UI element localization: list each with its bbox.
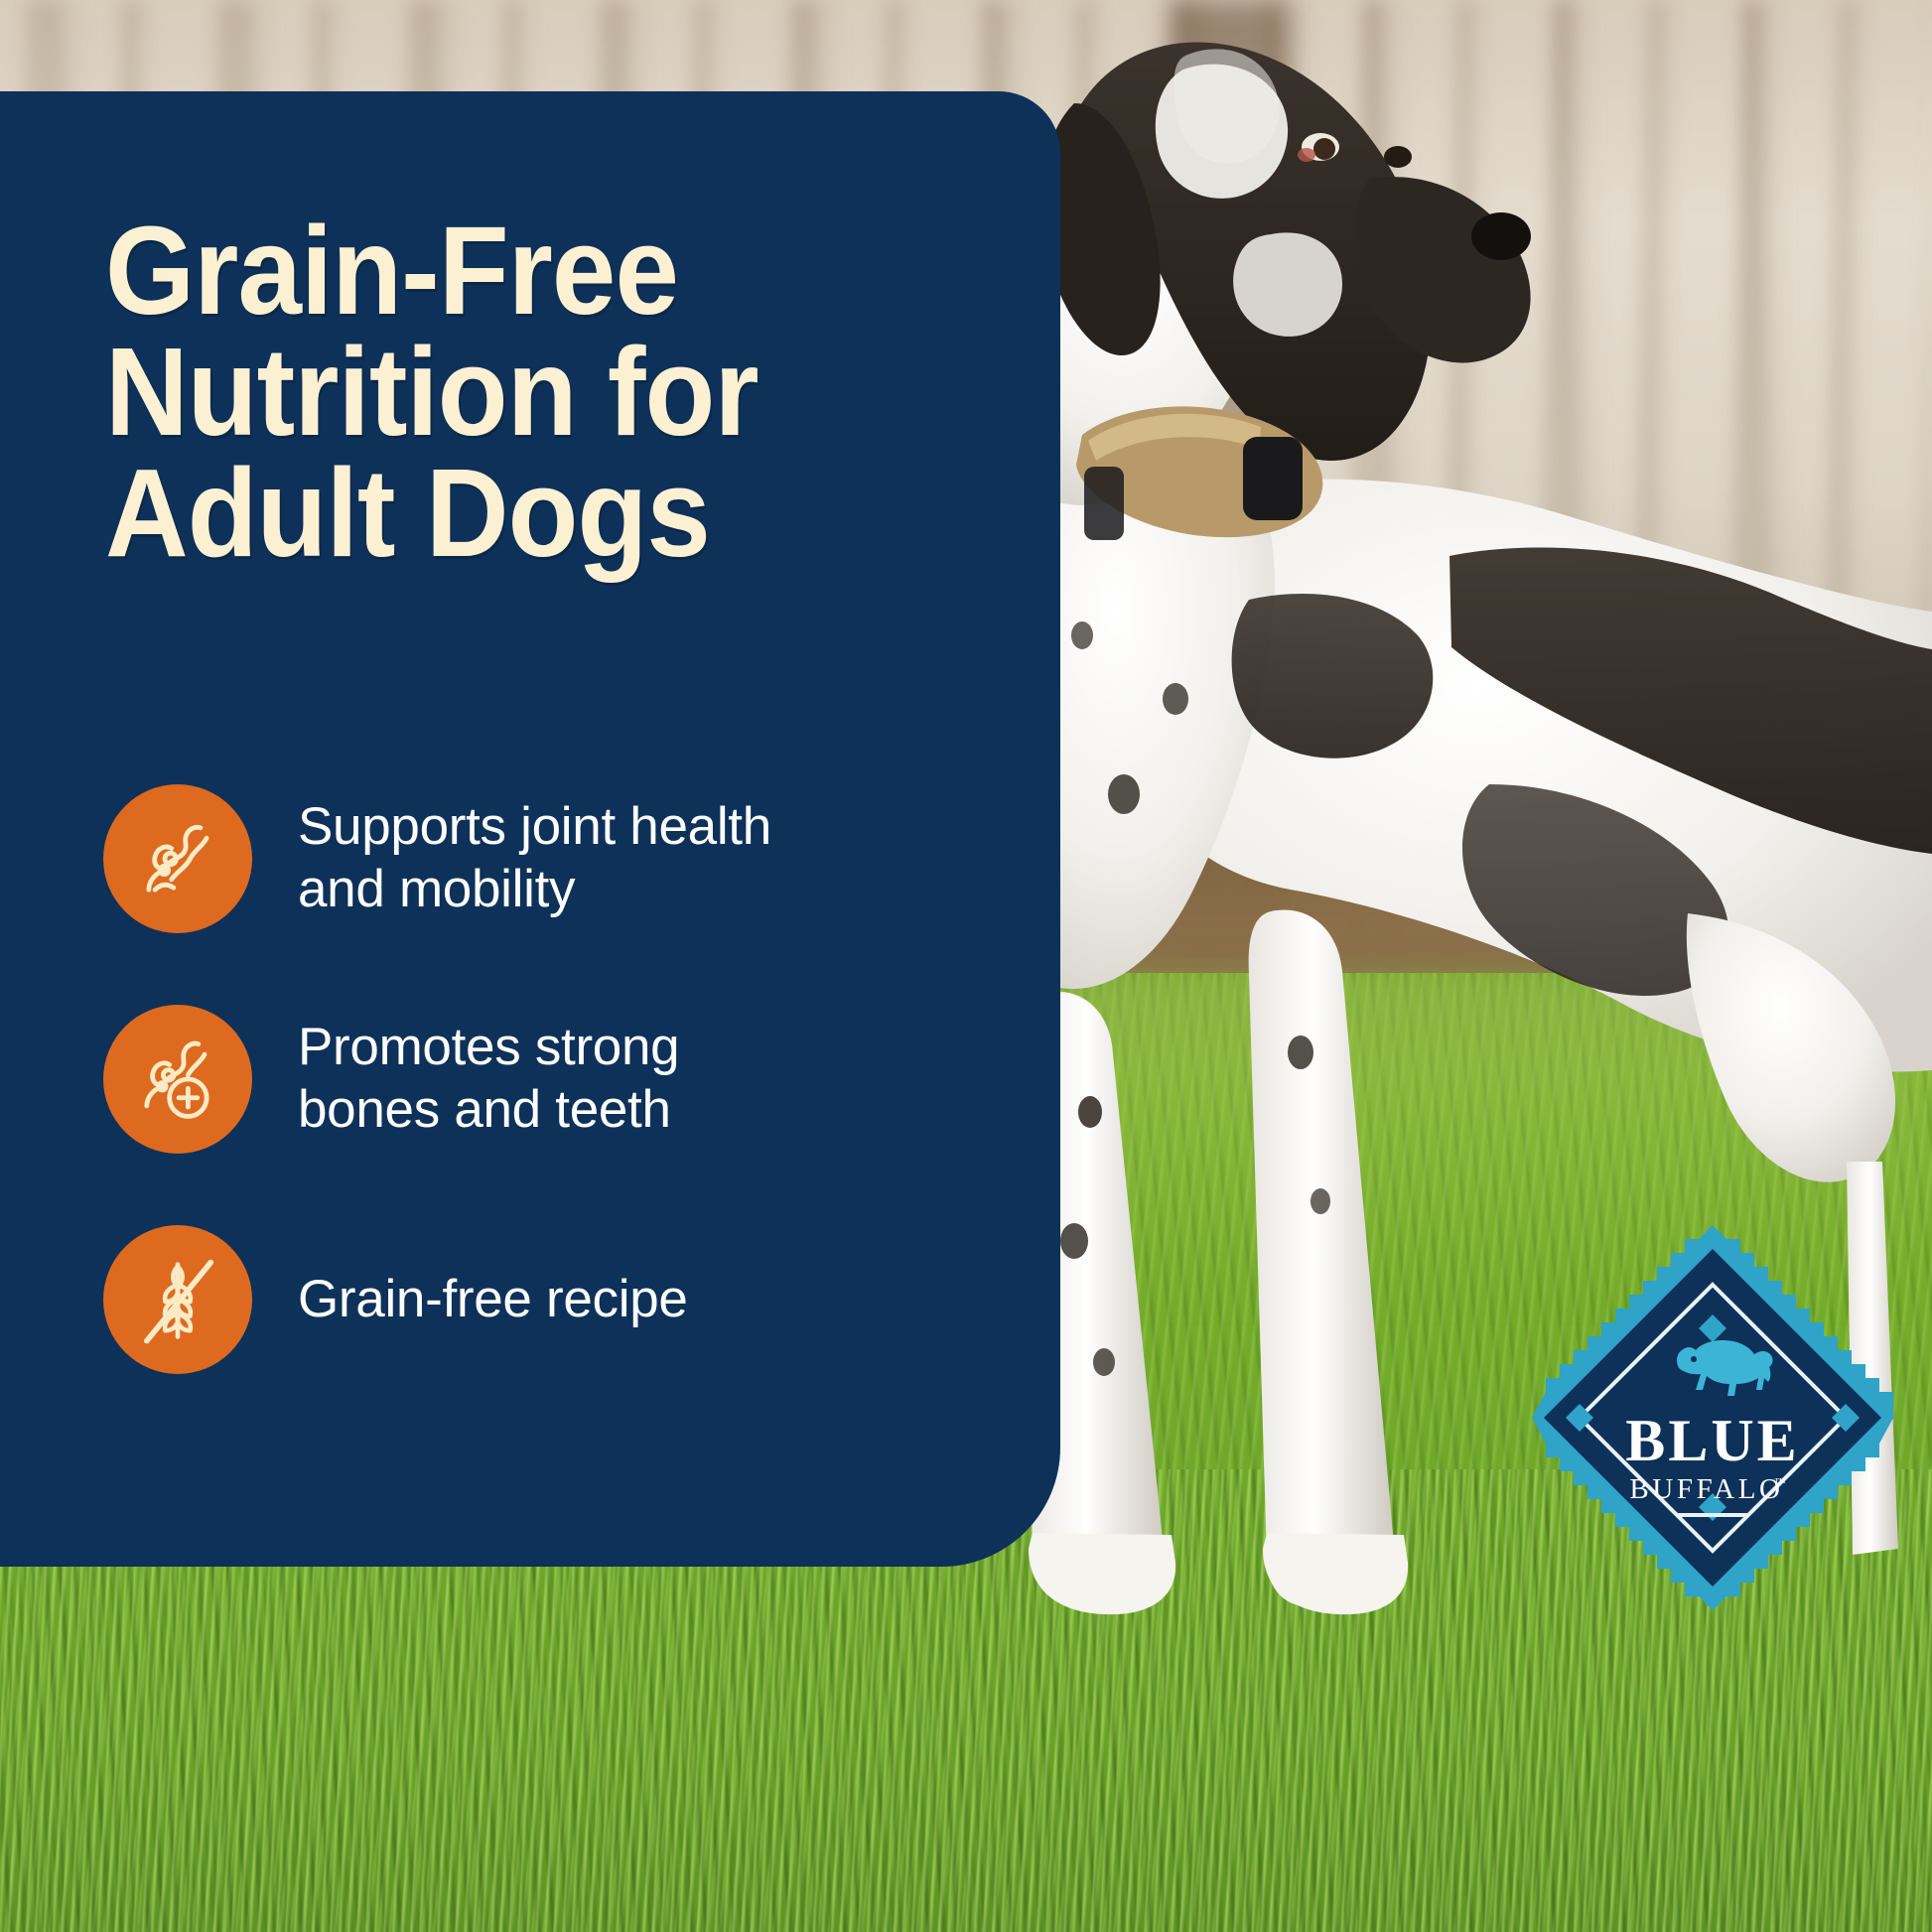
logo-word-blue: BLUE — [1625, 1408, 1799, 1473]
benefit-item-grain-free: Grain-free recipe — [103, 1225, 917, 1374]
dog-leg-spot-5 — [1311, 1188, 1330, 1214]
dog-leg-spot-3 — [1093, 1348, 1115, 1376]
benefits-list: Supports joint health and mobility Prom — [103, 784, 917, 1446]
benefit-text-line-1: Grain-free recipe — [298, 1269, 688, 1331]
dog-paw-left — [1029, 1533, 1175, 1614]
logo-underline — [1676, 1513, 1749, 1517]
page-title: Grain-Free Nutrition for Adult Dogs — [105, 210, 854, 575]
dog-paw-right — [1263, 1533, 1408, 1614]
dog-eye-right — [1384, 146, 1412, 168]
dog-chest-spot-2 — [1163, 683, 1188, 715]
headline-line-1: Grain-Free — [105, 210, 854, 332]
headline-line-2: Nutrition for — [105, 332, 854, 453]
headline-line-3: Adult Dogs — [105, 453, 854, 574]
dog-front-leg-right — [1249, 910, 1395, 1606]
dog-leg-spot-2 — [1060, 1223, 1088, 1259]
benefit-text-line-1: Promotes strong — [298, 1017, 679, 1079]
benefit-text-line-2: bones and teeth — [298, 1079, 679, 1142]
benefit-text-line-2: and mobility — [298, 859, 771, 921]
benefit-item-bones-teeth: Promotes strong bones and teeth — [103, 1005, 917, 1154]
dog-eye-corner — [1298, 148, 1315, 162]
dog-nose — [1471, 212, 1531, 260]
benefit-text: Promotes strong bones and teeth — [298, 1017, 679, 1141]
dog-leg-spot-1 — [1078, 1096, 1102, 1128]
benefit-text: Supports joint health and mobility — [298, 796, 771, 920]
blue-buffalo-logo[interactable]: BLUE BUFFALO ™ — [1514, 1219, 1911, 1616]
dog-chest-spot-1 — [1108, 774, 1140, 814]
dog-chest-spot-3 — [1071, 621, 1093, 649]
benefit-text: Grain-free recipe — [298, 1269, 688, 1331]
ad-creative: Grain-Free Nutrition for Adult Dogs Supp… — [0, 0, 1932, 1932]
bone-plus-icon — [103, 1005, 252, 1154]
dog-collar-buckle — [1243, 437, 1303, 520]
benefit-item-joint-health: Supports joint health and mobility — [103, 784, 917, 933]
wheat-slash-icon — [103, 1225, 252, 1374]
dog-cheek-white — [1233, 232, 1342, 337]
logo-word-buffalo: BUFFALO — [1629, 1473, 1783, 1505]
joint-bone-icon — [103, 784, 252, 933]
logo-trademark: ™ — [1774, 1475, 1786, 1489]
dog-leg-spot-4 — [1288, 1035, 1313, 1069]
dog-eye-pupil — [1313, 138, 1335, 160]
benefit-text-line-1: Supports joint health — [298, 796, 771, 859]
dog-collar-tag — [1084, 467, 1124, 540]
